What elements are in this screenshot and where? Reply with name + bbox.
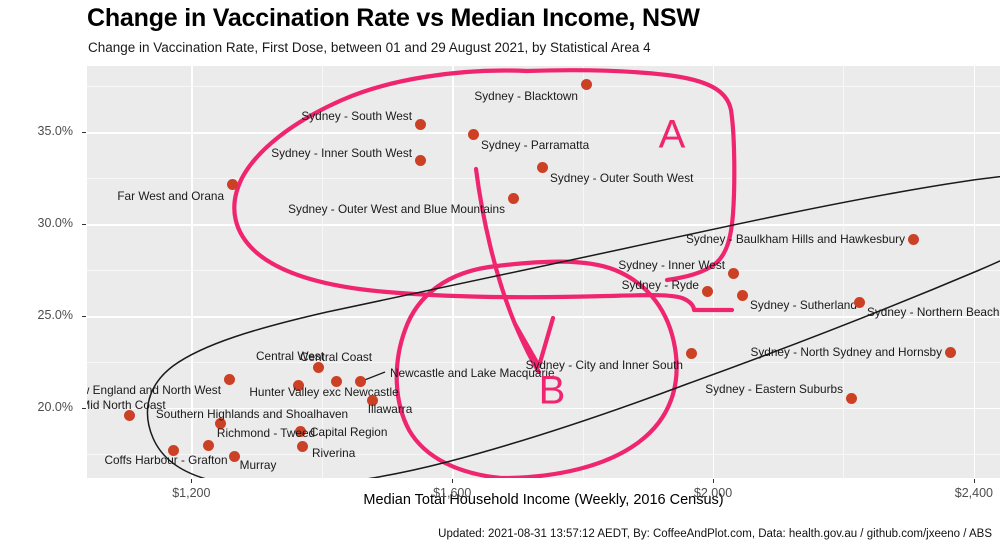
data-point[interactable] [945,347,956,358]
page-subtitle: Change in Vaccination Rate, First Dose, … [88,40,988,55]
data-point-label: Coffs Harbour - Grafton [104,453,227,467]
x-axis-tick-mark [191,479,192,483]
data-point[interactable] [854,297,865,308]
gridline-y-major [87,132,1000,133]
data-point-label: Sydney - Inner West [618,258,725,272]
x-axis-tick-label: $1,600 [417,486,487,500]
group-letter-a: A [659,113,686,158]
x-axis-tick-label: $2,000 [678,486,748,500]
gridline-y-minor [87,86,1000,87]
gridline-x-major [974,66,975,478]
y-axis-tick-label: 20.0% [13,400,73,414]
gridline-y-major [87,316,1000,317]
data-point[interactable] [415,119,426,130]
data-point-label: Newcastle and Lake Macquarie [390,366,555,380]
x-axis-tick-mark [974,479,975,483]
y-axis-tick-mark [82,224,86,225]
data-point-label: Sydney - Outer South West [550,171,693,185]
data-point[interactable] [227,179,238,190]
y-axis-tick-label: 25.0% [13,308,73,322]
page-title: Change in Vaccination Rate vs Median Inc… [87,4,987,33]
gridline-y-minor [87,270,1000,271]
data-point[interactable] [224,374,235,385]
x-axis-tick-mark [452,479,453,483]
data-point[interactable] [415,155,426,166]
gridline-x-minor [843,66,844,478]
data-point-label: Richmond - Tweed [217,426,315,440]
data-point[interactable] [581,79,592,90]
data-point-label: Sydney - Northern Beaches [867,305,1000,319]
data-point[interactable] [355,376,366,387]
gridline-x-major [713,66,714,478]
data-point[interactable] [702,286,713,297]
y-axis-tick-mark [82,408,86,409]
data-point-label: Mid North Coast [87,398,166,412]
data-point[interactable] [728,268,739,279]
x-axis-tick-label: $2,400 [939,486,1000,500]
data-point-label: Southern Highlands and Shoalhaven [156,407,348,421]
data-point-label: Far West and Orana [117,189,224,203]
data-point-label: Sydney - Outer West and Blue Mountains [288,202,505,216]
y-axis-tick-label: 35.0% [13,124,73,138]
data-point[interactable] [737,290,748,301]
y-axis-tick-label: 30.0% [13,216,73,230]
data-point-label: Sydney - Inner South West [271,146,412,160]
data-point[interactable] [229,451,240,462]
gridline-y-minor [87,178,1000,179]
data-point-label: Illawarra [368,402,413,416]
data-point-label: Sydney - Ryde [622,278,699,292]
group-letter-b: B [539,369,566,414]
data-point-label: Sydney - South West [301,109,412,123]
group-a-circle [234,70,734,310]
gridline-y-major [87,224,1000,225]
data-point-label: Sydney - Sutherland [750,298,857,312]
x-axis-tick-mark [713,479,714,483]
data-point[interactable] [537,162,548,173]
data-point-label: Sydney - Parramatta [481,138,589,152]
plot-panel: Sydney - BlacktownSydney - South WestSyd… [87,66,1000,478]
data-point-label: Sydney - Eastern Suburbs [705,382,843,396]
data-point-label: New England and North West [87,383,221,397]
chart-caption: Updated: 2021-08-31 13:57:12 AEDT, By: C… [438,528,992,540]
gridline-x-minor [583,66,584,478]
data-point[interactable] [846,393,857,404]
data-point-label: Central Coast [300,350,372,364]
gridline-x-major [452,66,453,478]
data-point[interactable] [908,234,919,245]
data-point-label: Capital Region [310,425,387,439]
y-axis-tick-mark [82,316,86,317]
data-point[interactable] [203,440,214,451]
data-point[interactable] [686,348,697,359]
data-point[interactable] [508,193,519,204]
data-point[interactable] [468,129,479,140]
y-axis-tick-mark [82,132,86,133]
data-point-label: Murray [240,458,277,472]
data-point-label: Riverina [312,446,355,460]
x-axis-tick-label: $1,200 [156,486,226,500]
data-point[interactable] [297,441,308,452]
data-point-label: Sydney - Baulkham Hills and Hawkesbury [686,232,905,246]
data-point-label: Sydney - North Sydney and Hornsby [751,345,942,359]
data-point-label: Sydney - Blacktown [474,89,578,103]
chart-root: Change in Vaccination Rate vs Median Inc… [0,0,1000,553]
